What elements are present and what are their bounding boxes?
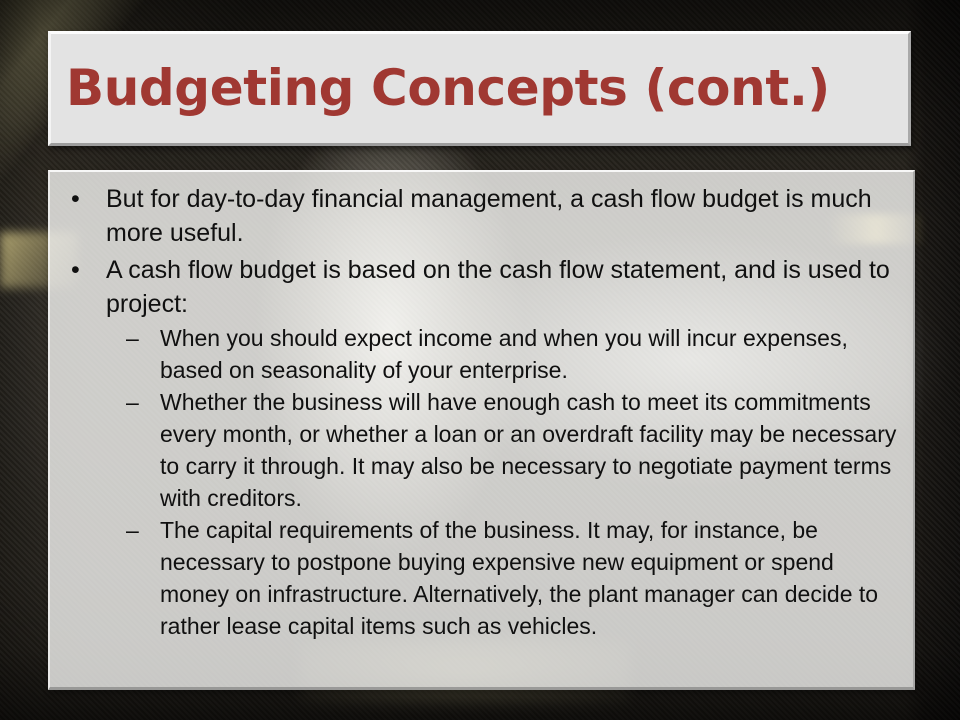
list-item: • But for day-to-day financial managemen…	[60, 182, 899, 251]
dash-marker-icon: –	[126, 387, 139, 419]
dash-marker-icon: –	[126, 515, 139, 547]
slide-title-plate: Budgeting Concepts (cont.)	[48, 31, 911, 146]
sub-list-item-text: The capital requirements of the business…	[160, 517, 878, 638]
list-item-text: A cash flow budget is based on the cash …	[106, 256, 890, 318]
bullet-marker-icon: •	[71, 253, 80, 287]
bullet-list: • But for day-to-day financial managemen…	[60, 182, 899, 642]
sub-list-item-text: When you should expect income and when y…	[160, 325, 848, 383]
presentation-slide: Budgeting Concepts (cont.) • But for day…	[0, 0, 960, 720]
slide-content-plate: • But for day-to-day financial managemen…	[48, 170, 915, 690]
dash-marker-icon: –	[126, 323, 139, 355]
sub-list-item: – The capital requirements of the busine…	[118, 515, 899, 642]
sub-list-item: – When you should expect income and when…	[118, 323, 899, 386]
bullet-marker-icon: •	[71, 182, 80, 216]
sub-list-item-text: Whether the business will have enough ca…	[160, 389, 896, 510]
sub-list-item: – Whether the business will have enough …	[118, 387, 899, 514]
list-item: • A cash flow budget is based on the cas…	[60, 253, 899, 643]
page-title: Budgeting Concepts (cont.)	[51, 62, 830, 115]
list-item-text: But for day-to-day financial management,…	[106, 185, 872, 247]
sub-bullet-list: – When you should expect income and when…	[118, 323, 899, 642]
